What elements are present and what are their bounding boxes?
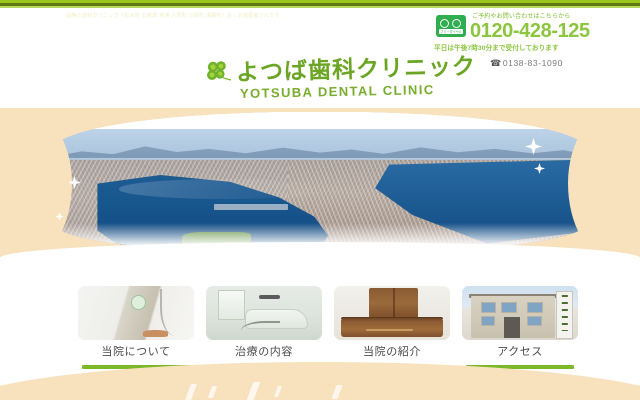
telephone-icon: ☎ [490, 58, 502, 68]
hero-top-fade [55, 112, 585, 126]
building-window [527, 316, 542, 326]
freedial-icon-label: フリーダイヤル [438, 30, 464, 34]
building-window [481, 302, 497, 313]
telephone-row[interactable]: ☎0138-83-1090 [490, 57, 563, 69]
accent-bar-pale-green [0, 6, 640, 8]
clinic-signboard [556, 291, 573, 338]
chair-badge [131, 295, 146, 310]
counter-desk [341, 318, 443, 336]
nav-label-access: アクセス [462, 344, 578, 360]
building-window [501, 302, 517, 313]
nav-label-treatment: 治療の内容 [206, 344, 322, 360]
logo-name-english: YOTSUBA DENTAL CLINIC [240, 82, 435, 102]
nav-label-about: 当院について [78, 344, 194, 360]
nav-thumb-access [462, 286, 578, 340]
four-leaf-clover-icon [204, 60, 234, 86]
hero-panorama-photo [55, 112, 585, 252]
counter-cabinet [369, 288, 418, 318]
nav-label-introduction: 当院の紹介 [334, 344, 450, 360]
freedial-eye-right [452, 19, 461, 28]
site-logo[interactable]: よつば歯科クリニック YOTSUBA DENTAL CLINIC [200, 56, 450, 106]
room-window [218, 290, 246, 320]
chair-cable [160, 289, 185, 335]
room-arm [241, 321, 280, 337]
freedial-eye-left [440, 19, 449, 28]
logo-name-japanese: よつば歯科クリニック [236, 51, 477, 87]
telephone-number: 0138-83-1090 [503, 58, 563, 68]
top-accent-bars [0, 0, 640, 8]
building-door [504, 317, 520, 338]
footer-decoration [0, 360, 640, 400]
hero-banner [0, 108, 640, 258]
footer-cream-curve [0, 362, 640, 400]
building-window [527, 302, 543, 313]
hero-pier [214, 204, 288, 210]
freedial-number[interactable]: 0120-428-125 [470, 19, 590, 43]
site-tagline: 函館の歯科クリニック（松木町 五稜郭 本通 人見町 川原町 深堀町）近くの歯医者… [66, 12, 426, 20]
signboard-text-marks [562, 295, 568, 331]
hero-water-highlight [119, 179, 331, 199]
room-panel [259, 295, 280, 299]
freedial-row: フリーダイヤル ご予約やお問い合わせはこちらから 0120-428-125 [432, 12, 636, 44]
chair-armrest [143, 330, 169, 336]
nav-thumb-introduction [334, 286, 450, 340]
nav-thumb-treatment [206, 286, 322, 340]
freedial-icon: フリーダイヤル [436, 15, 466, 37]
building-window [481, 316, 496, 326]
nav-thumb-about [78, 286, 194, 340]
